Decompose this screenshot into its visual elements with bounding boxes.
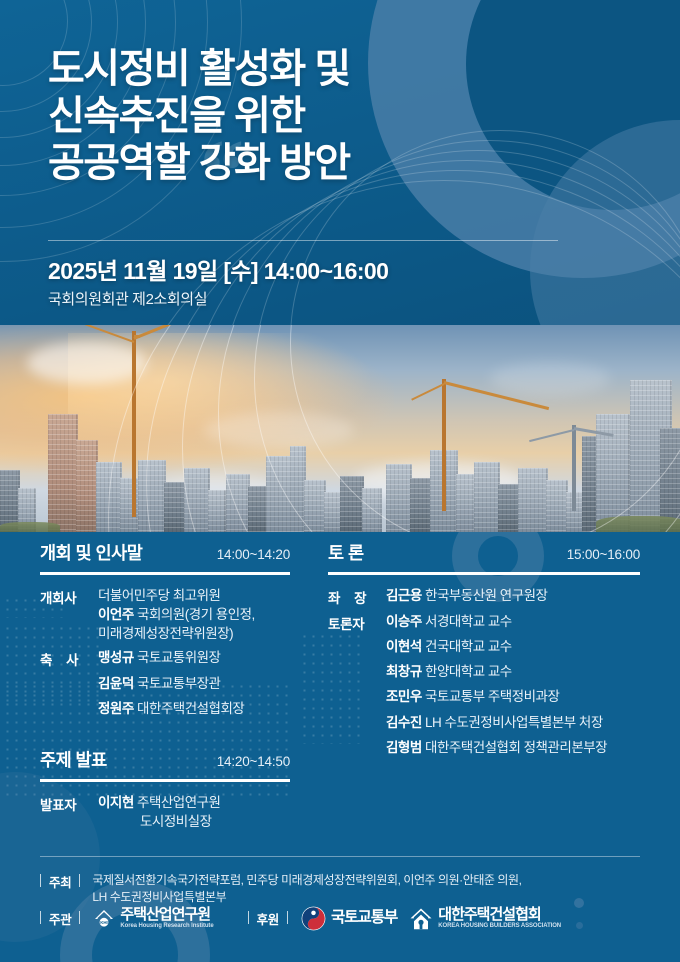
- poster-title: 도시정비 활성화 및 신속추진을 위한 공공역할 강화 방안: [48, 46, 608, 186]
- organizer-label: 주관: [40, 909, 80, 928]
- section-divider: [40, 572, 290, 575]
- program-line: 도시정비실장: [98, 812, 290, 831]
- section-title: 토 론: [328, 540, 364, 565]
- row-body: 이승주 서경대학교 교수 이현석 건국대학교 교수 최창규 한양대학교 교수 조…: [386, 612, 640, 757]
- program-row: 축 사 맹성규 국토교통위원장 김윤덕 국토교통부장관 정원주 대한주택건설협회…: [40, 648, 290, 717]
- row-body: 이지현 주택산업연구원 도시정비실장: [98, 793, 290, 831]
- logo-text: 주택산업연구원 Korea Housing Research Institute: [120, 907, 213, 931]
- logo-text: 국토교통부: [331, 910, 397, 926]
- program-line: 조민우 국토교통부 주택정비과장: [386, 687, 640, 706]
- row-label: 개회사: [40, 586, 98, 607]
- program-line: 정원주 대한주택건설협회장: [98, 699, 290, 718]
- program-line: 김윤덕 국토교통부장관: [98, 674, 290, 693]
- host-line-1: 국제질서전환기속국가전략포럼, 민주당 미래경제성장전략위원회, 이언주 의원·…: [80, 872, 521, 889]
- program-column-left: 개회 및 인사말 14:00~14:20 개회사 더불어민주당 최고위원 이언주…: [40, 540, 290, 836]
- program-section-opening: 개회 및 인사말 14:00~14:20 개회사 더불어민주당 최고위원 이언주…: [40, 540, 290, 718]
- section-title: 주제 발표: [40, 747, 107, 772]
- logo-khba: 대한주택건설협회 KOREA HOUSING BUILDERS ASSOCIAT…: [409, 907, 561, 931]
- logo-row: 주관 KHI 주택산업연구원 Korea Housing Research In…: [40, 906, 561, 931]
- logo-khri: KHI 주택산업연구원 Korea Housing Research Insti…: [93, 907, 213, 931]
- section-header: 토 론 15:00~16:00: [328, 540, 640, 572]
- program-column-right: 토 론 15:00~16:00 좌 장 김근용 한국부동산원 연구원장 토론자: [328, 540, 640, 762]
- section-divider: [40, 779, 290, 782]
- logo-molit: 국토교통부: [301, 906, 397, 931]
- poster-header: “ 도시정비 활성화 및 신속추진을 위한 공공역할 강화 방안 2025년 1…: [0, 0, 680, 325]
- house-icon: [409, 907, 433, 931]
- section-time: 14:20~14:50: [217, 754, 290, 769]
- row-label: 좌 장: [328, 586, 386, 607]
- program-section-presentation: 주제 발표 14:20~14:50 발표자 이지현 주택산업연구원 도시정비실장: [40, 747, 290, 831]
- event-venue: 국회의원회관 제2소회의실: [48, 288, 207, 309]
- program-line: 이지현 주택산업연구원: [98, 793, 290, 812]
- logo-english-name: Korea Housing Research Institute: [120, 923, 213, 930]
- treeline: [0, 522, 60, 532]
- section-time: 14:00~14:20: [217, 547, 290, 562]
- logo-korean-name: 대한주택건설협회: [438, 907, 561, 923]
- program-row: 개회사 더불어민주당 최고위원 이언주 국회의원(경기 용인정, 미래경제성장전…: [40, 586, 290, 643]
- logo-korean-name: 국토교통부: [331, 910, 397, 926]
- building: [48, 414, 78, 532]
- khri-house-icon: KHI: [93, 908, 115, 930]
- program-line: 맹성규 국토교통위원장: [98, 648, 290, 667]
- program-line: 이현석 건국대학교 교수: [386, 637, 640, 656]
- program-line: 김수진 LH 수도권정비사업특별본부 처장: [386, 713, 640, 732]
- hero-photo: [0, 325, 680, 532]
- title-divider: [48, 240, 558, 241]
- program-line: 미래경제성장전략위원장): [98, 624, 290, 643]
- host-row: 주최 국제질서전환기속국가전략포럼, 민주당 미래경제성장전략위원회, 이언주 …: [40, 872, 521, 907]
- row-body: 맹성규 국토교통위원장 김윤덕 국토교통부장관 정원주 대한주택건설협회장: [98, 648, 290, 717]
- sponsor-label: 후원: [248, 909, 288, 928]
- title-line-3: 공공역할 강화 방안: [48, 140, 608, 187]
- section-header: 개회 및 인사말 14:00~14:20: [40, 540, 290, 572]
- row-label: 축 사: [40, 648, 98, 669]
- poster-footer: 주최 국제질서전환기속국가전략포럼, 민주당 미래경제성장전략위원회, 이언주 …: [0, 862, 680, 962]
- title-line-1: 도시정비 활성화 및: [48, 46, 608, 93]
- host-text: 국제질서전환기속국가전략포럼, 민주당 미래경제성장전략위원회, 이언주 의원·…: [80, 872, 521, 907]
- footer-divider: [40, 856, 640, 857]
- title-line-2: 신속추진을 위한: [48, 93, 608, 140]
- program-row: 좌 장 김근용 한국부동산원 연구원장: [328, 586, 640, 607]
- section-divider: [328, 572, 640, 575]
- row-label: 발표자: [40, 793, 98, 814]
- program-section: 개회 및 인사말 14:00~14:20 개회사 더불어민주당 최고위원 이언주…: [0, 532, 680, 962]
- program-line: 이언주 국회의원(경기 용인정,: [98, 605, 290, 624]
- logo-korean-name: 주택산업연구원: [120, 907, 213, 923]
- program-line: 김형범 대한주택건설협회 정책관리본부장: [386, 738, 640, 757]
- row-body: 김근용 한국부동산원 연구원장: [386, 586, 640, 605]
- program-row: 토론자 이승주 서경대학교 교수 이현석 건국대학교 교수 최창규 한양대학교 …: [328, 612, 640, 757]
- host-label: 주최: [40, 872, 80, 891]
- section-title: 개회 및 인사말: [40, 540, 142, 565]
- logo-text: 대한주택건설협회 KOREA HOUSING BUILDERS ASSOCIAT…: [438, 907, 561, 931]
- building: [76, 440, 98, 532]
- section-header: 주제 발표 14:20~14:50: [40, 747, 290, 779]
- row-label: 토론자: [328, 612, 386, 633]
- decor-hairline: [108, 325, 680, 532]
- row-body: 더불어민주당 최고위원 이언주 국회의원(경기 용인정, 미래경제성장전략위원장…: [98, 586, 290, 643]
- event-date: 2025년 11월 19일 [수] 14:00~16:00: [48, 252, 388, 286]
- section-time: 15:00~16:00: [567, 547, 640, 562]
- program-section-discussion: 토 론 15:00~16:00 좌 장 김근용 한국부동산원 연구원장 토론자: [328, 540, 640, 757]
- svg-text:KHI: KHI: [101, 920, 109, 925]
- host-line-2: LH 수도권정비사업특별본부: [80, 889, 521, 906]
- program-line: 이승주 서경대학교 교수: [386, 612, 640, 631]
- poster-root: “ 도시정비 활성화 및 신속추진을 위한 공공역할 강화 방안 2025년 1…: [0, 0, 680, 962]
- program-line: 최창규 한양대학교 교수: [386, 662, 640, 681]
- program-row: 발표자 이지현 주택산업연구원 도시정비실장: [40, 793, 290, 831]
- taegeuk-icon: [301, 906, 326, 931]
- logo-english-name: KOREA HOUSING BUILDERS ASSOCIATION: [438, 923, 561, 930]
- program-line: 김근용 한국부동산원 연구원장: [386, 586, 640, 605]
- program-line: 더불어민주당 최고위원: [98, 586, 290, 605]
